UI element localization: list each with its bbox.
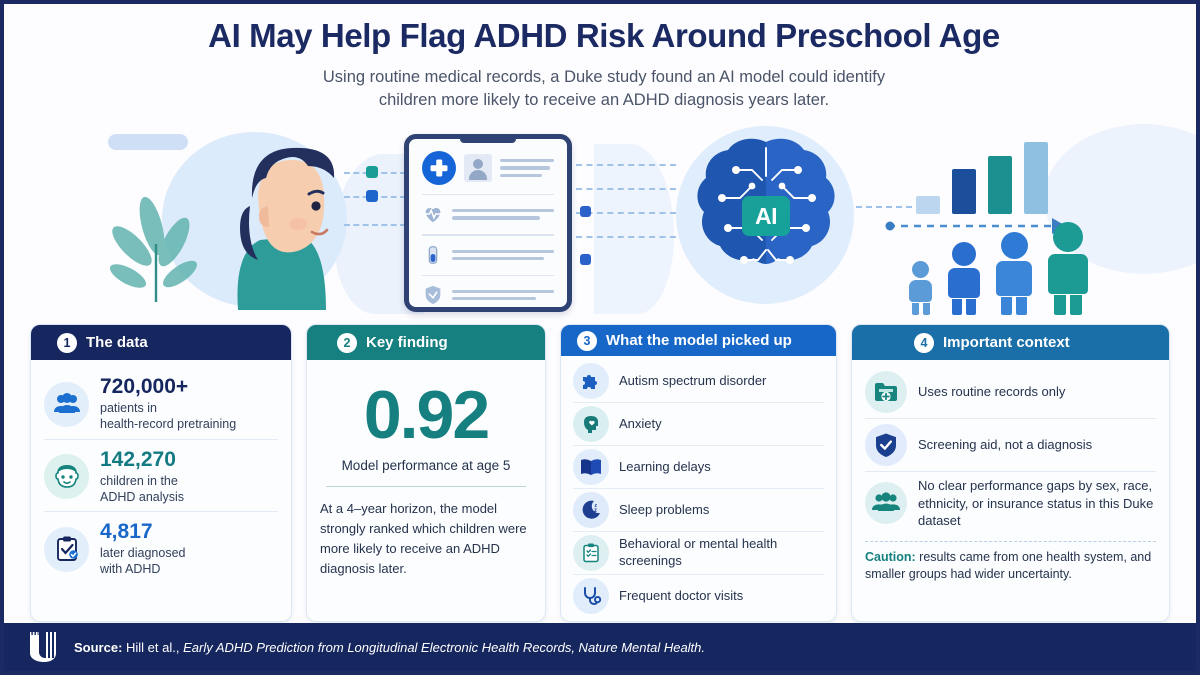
list-item: z z Sleep problems xyxy=(573,488,824,531)
moon-sleep-icon: z z xyxy=(573,492,609,528)
checklist-clipboard-icon xyxy=(573,535,609,571)
data-node xyxy=(580,206,591,217)
page-subtitle: Using routine medical records, a Duke st… xyxy=(4,66,1200,113)
child-face-icon xyxy=(44,454,89,499)
puzzle-piece-icon xyxy=(573,363,609,399)
connector-line xyxy=(576,212,676,214)
context-item: Screening aid, not a diagnosis xyxy=(865,418,1156,471)
key-finding-body: At a 4–year horizon, the model strongly … xyxy=(320,499,532,580)
group-people-icon xyxy=(44,382,89,427)
head-heart-icon xyxy=(573,406,609,442)
stat-text: 720,000+ patients in health-record pretr… xyxy=(100,376,236,433)
record-divider xyxy=(422,234,554,235)
panel-2-body: 0.92 Model performance at age 5 At a 4–y… xyxy=(307,360,545,621)
panel-1-body: 720,000+ patients in health-record pretr… xyxy=(31,360,291,621)
person-figure xyxy=(1048,222,1088,315)
svg-text:z: z xyxy=(594,508,597,514)
stat-value: 720,000+ xyxy=(100,376,236,398)
medical-record-tablet xyxy=(404,134,572,312)
ai-label-badge: AI xyxy=(742,196,790,236)
child-illustration xyxy=(180,132,350,312)
stat-row: 142,270 children in the ADHD analysis xyxy=(44,439,278,512)
panel-2-header: 2 Key finding xyxy=(307,325,545,360)
shield-check-icon xyxy=(865,424,907,466)
bar-4 xyxy=(1024,142,1048,214)
panel-3-header: 3 What the model picked up xyxy=(561,325,836,356)
record-text-lines xyxy=(500,159,554,177)
context-item: Uses routine records only xyxy=(865,366,1156,418)
footer: Source: Hill et al., Early ADHD Predicti… xyxy=(4,623,1200,671)
record-divider xyxy=(422,275,554,276)
page-title: AI May Help Flag ADHD Risk Around Presch… xyxy=(4,18,1200,55)
person-figure xyxy=(948,242,980,315)
panel-model-signals: 3 What the model picked up Autism spectr… xyxy=(560,324,837,622)
panel-title: What the model picked up xyxy=(606,332,792,349)
panel-title: The data xyxy=(86,334,148,351)
panel-title: Key finding xyxy=(366,334,448,351)
connector-line xyxy=(576,236,676,238)
list-item-label: Frequent doctor visits xyxy=(619,588,743,605)
key-metric-caption: Model performance at age 5 xyxy=(320,458,532,473)
bar-3 xyxy=(988,156,1012,214)
list-item-label: Anxiety xyxy=(619,416,662,433)
children-group-illustration xyxy=(909,222,1088,315)
growth-bar-chart xyxy=(916,142,1048,214)
data-node xyxy=(366,166,378,178)
context-item: No clear performance gaps by sex, race, … xyxy=(865,471,1156,535)
panel-number: 3 xyxy=(577,331,597,351)
stat-text: 142,270 children in the ADHD analysis xyxy=(100,449,184,506)
panel-1-header: 1 The data xyxy=(31,325,291,360)
panel-number: 4 xyxy=(914,333,934,353)
subtitle-line-1: Using routine medical records, a Duke st… xyxy=(4,66,1200,89)
stat-label: later diagnosed with ADHD xyxy=(100,545,185,578)
panel-4-header: 4 Important context xyxy=(852,325,1169,360)
list-item-label: Learning delays xyxy=(619,459,711,476)
list-item-label: Autism spectrum disorder xyxy=(619,373,766,390)
heartbeat-icon xyxy=(422,203,444,225)
list-item: Behavioral or mental health screenings xyxy=(573,531,824,574)
record-row-shield xyxy=(422,284,554,306)
divider xyxy=(326,486,526,487)
stat-row: 720,000+ patients in health-record pretr… xyxy=(44,371,278,439)
caution-label: Caution: xyxy=(865,550,916,564)
caution-note: Caution: results came from one health sy… xyxy=(865,549,1156,584)
patient-avatar xyxy=(464,154,492,182)
panel-important-context: 4 Important context Uses routine records… xyxy=(851,324,1170,622)
context-item-label: No clear performance gaps by sex, race, … xyxy=(918,477,1156,530)
connector-line xyxy=(576,164,676,166)
hero-illustration: AI xyxy=(4,124,1200,319)
stat-text: 4,817 later diagnosed with ADHD xyxy=(100,521,185,578)
source-label: Source: xyxy=(74,640,122,655)
duke-shield-logo xyxy=(28,630,58,664)
stat-value: 142,270 xyxy=(100,449,184,471)
folder-medical-icon xyxy=(865,371,907,413)
panels-row: 1 The data 720,000+ patients in xyxy=(4,324,1200,622)
record-row-lab xyxy=(422,244,554,266)
person-figure xyxy=(996,232,1032,315)
caution-divider xyxy=(865,541,1156,542)
header: AI May Help Flag ADHD Risk Around Presch… xyxy=(4,18,1200,113)
record-header-row xyxy=(422,151,554,185)
context-item-label: Screening aid, not a diagnosis xyxy=(918,436,1092,454)
infographic-page: AI May Help Flag ADHD Risk Around Presch… xyxy=(0,0,1200,675)
open-book-icon xyxy=(573,449,609,485)
list-item: Learning delays xyxy=(573,445,824,488)
connector-line xyxy=(576,188,676,190)
list-item: Anxiety xyxy=(573,402,824,445)
test-tube-icon xyxy=(422,244,444,266)
shield-icon xyxy=(422,284,444,306)
list-item: Autism spectrum disorder xyxy=(573,360,824,402)
panel-number: 1 xyxy=(57,333,77,353)
panel-title: Important context xyxy=(943,334,1070,351)
stat-row: 4,817 later diagnosed with ADHD xyxy=(44,511,278,584)
medical-cross-icon xyxy=(422,151,456,185)
record-row-vitals xyxy=(422,203,554,225)
tablet-notch xyxy=(460,137,516,143)
list-item-label: Behavioral or mental health screenings xyxy=(619,536,824,570)
panel-4-body: Uses routine records only Screening aid,… xyxy=(852,360,1169,621)
source-author: Hill et al., xyxy=(122,640,183,655)
subtitle-line-2: children more likely to receive an ADHD … xyxy=(4,89,1200,112)
list-item-label: Sleep problems xyxy=(619,502,709,519)
list-item: Frequent doctor visits xyxy=(573,574,824,617)
person-figure xyxy=(909,261,932,315)
key-metric-value: 0.92 xyxy=(320,381,532,449)
panel-3-body: Autism spectrum disorder Anxiety xyxy=(561,356,836,621)
panel-key-finding: 2 Key finding 0.92 Model performance at … xyxy=(306,324,546,622)
context-item-label: Uses routine records only xyxy=(918,383,1065,401)
data-node xyxy=(580,254,591,265)
clipboard-check-icon xyxy=(44,527,89,572)
stat-label: children in the ADHD analysis xyxy=(100,473,184,506)
panel-the-data: 1 The data 720,000+ patients in xyxy=(30,324,292,622)
group-people-icon xyxy=(865,482,907,524)
source-citation: Source: Hill et al., Early ADHD Predicti… xyxy=(74,640,705,655)
stat-value: 4,817 xyxy=(100,521,185,543)
panel-number: 2 xyxy=(337,333,357,353)
source-title: Early ADHD Prediction from Longitudinal … xyxy=(183,640,705,655)
connector-line xyxy=(344,224,406,226)
data-node xyxy=(366,190,378,202)
record-divider xyxy=(422,194,554,195)
stat-label: patients in health-record pretraining xyxy=(100,400,236,433)
stethoscope-icon xyxy=(573,578,609,614)
